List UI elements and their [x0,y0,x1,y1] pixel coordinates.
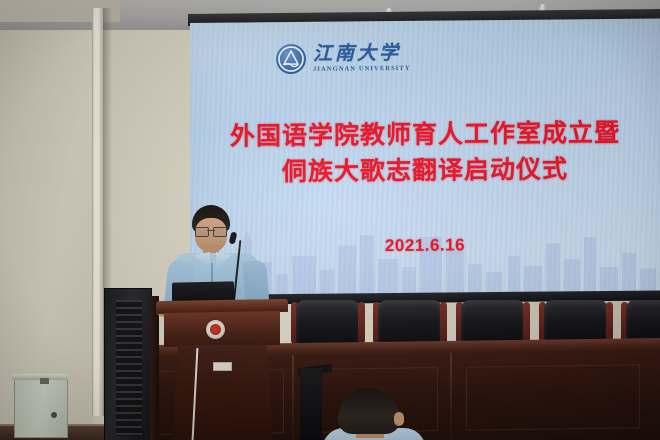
slide-title-line-1: 外国语学院教师育人工作室成立暨 [230,118,620,151]
electrical-cabinet-knob [51,412,57,418]
podium [150,300,295,440]
wall-pillar [92,8,103,416]
equipment-stand [300,368,322,440]
chair-arm [440,302,447,344]
chair-arm [523,302,530,344]
university-seal-emblem-icon [206,320,225,339]
eyeglasses-icon [195,227,227,235]
conference-chair [290,296,366,346]
chair-back [544,300,608,344]
slide-title-line-2: 侗族大歌志翻译启动仪式 [190,150,660,190]
electrical-cabinet [14,378,68,438]
conference-chair [455,296,531,346]
university-logo: 江南大学 JIANGNAN UNIVERSITY [276,43,411,74]
seated-person-ear [394,412,404,426]
table-panel-inset [466,364,640,430]
conference-room-photo: 江南大学 JIANGNAN UNIVERSITY 外国语学院教师育人工作室成立暨… [0,0,660,440]
seated-person [320,388,428,440]
conference-chair [372,296,448,346]
electrical-cabinet-latch [40,378,49,384]
chair-back [378,300,442,344]
eyeglass-lens [195,227,209,237]
seated-person-head [338,388,400,434]
jiangnan-university-crest-icon [276,44,306,74]
chair-back [461,300,525,344]
chair-arm [358,302,365,344]
podium-asset-tag [213,362,232,371]
chair-back [296,300,360,344]
av-rack-slots [116,300,142,436]
logo-chinese-name: 江南大学 [313,44,411,64]
slide-title: 外国语学院教师育人工作室成立暨 侗族大歌志翻译启动仪式 [190,114,660,190]
seal-inner [210,324,221,335]
podium-base [172,345,273,440]
table-panel-divider [450,353,452,440]
logo-english-name: JIANGNAN UNIVERSITY [313,66,411,73]
eyeglass-lens [213,227,227,237]
